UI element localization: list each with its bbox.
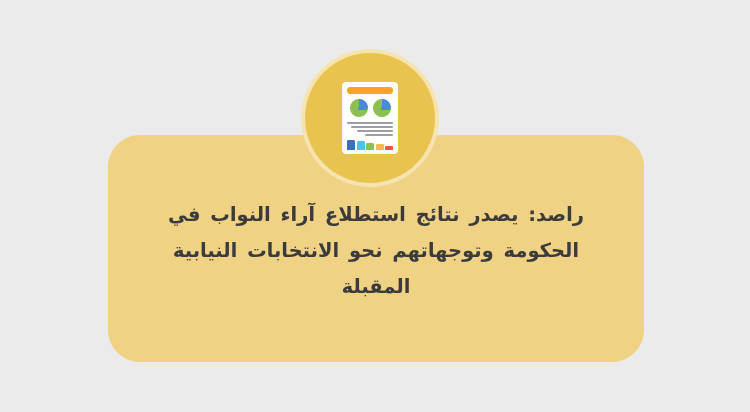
bar-chart-bar (357, 141, 365, 150)
pie-chart-icon (350, 99, 368, 117)
document-pie-charts (347, 98, 393, 117)
document-bar-chart (347, 140, 393, 150)
document-header-bar (347, 87, 393, 94)
page-title: راصد: يصدر نتائج استطلاع آراء النواب في … (108, 197, 644, 305)
page-root: راصد: يصدر نتائج استطلاع آراء النواب في … (0, 0, 750, 412)
bar-chart-bar (376, 144, 384, 150)
report-document-icon (342, 82, 398, 154)
document-text-line (365, 134, 393, 136)
bar-chart-bar (347, 140, 355, 150)
document-text-line (357, 130, 393, 132)
bar-chart-bar (385, 146, 393, 150)
document-text-line (351, 126, 393, 128)
report-badge (305, 53, 435, 183)
document-text-line (347, 122, 393, 124)
bar-chart-bar (366, 143, 374, 150)
pie-chart-icon (373, 99, 391, 117)
document-text-lines (347, 122, 393, 136)
